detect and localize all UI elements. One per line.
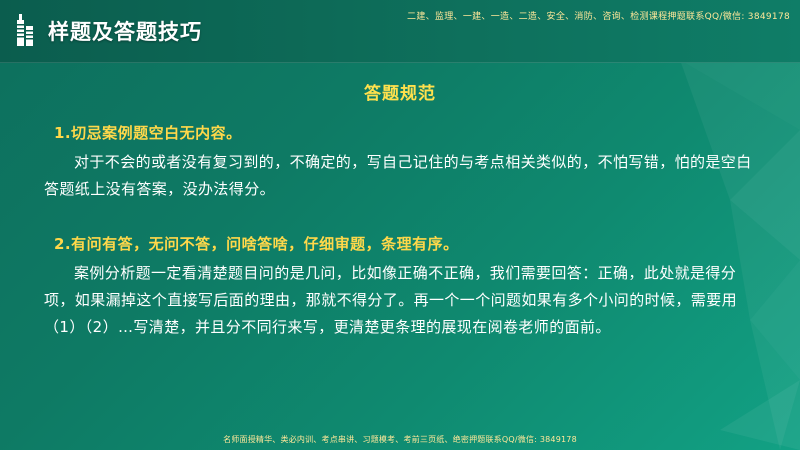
page-title: 样题及答题技巧 xyxy=(48,16,202,46)
slide-content: 答题规范 1.切忌案例题空白无内容。 对于不会的或者没有复习到的，不确定的，写自… xyxy=(0,79,800,341)
content-title: 答题规范 xyxy=(44,79,756,104)
point-2-heading: 2.有问有答，无问不答，问啥答啥，仔细审题，条理有序。 xyxy=(54,233,756,254)
footer-ad-text: 名师面授精华、类必内训、考点串讲、习题模考、考前三页纸、绝密押题联系QQ/微信:… xyxy=(0,434,800,445)
slide-header: 样题及答题技巧 二建、监理、一建、一造、二造、安全、消防、咨询、检测课程押题联系… xyxy=(0,0,800,63)
building-tower-icon xyxy=(14,14,40,48)
slide: 样题及答题技巧 二建、监理、一建、一造、二造、安全、消防、咨询、检测课程押题联系… xyxy=(0,0,800,450)
point-1-body: 对于不会的或者没有复习到的，不确定的，写自己记住的与考点相关类似的，不怕写错，怕… xyxy=(44,149,756,203)
header-ad-text: 二建、监理、一建、一造、二造、安全、消防、咨询、检测课程押题联系QQ/微信: 3… xyxy=(407,9,790,22)
point-2-body: 案例分析题一定看清楚题目问的是几问，比如像正确不正确，我们需要回答：正确，此处就… xyxy=(44,260,756,341)
point-1-heading: 1.切忌案例题空白无内容。 xyxy=(54,122,756,143)
